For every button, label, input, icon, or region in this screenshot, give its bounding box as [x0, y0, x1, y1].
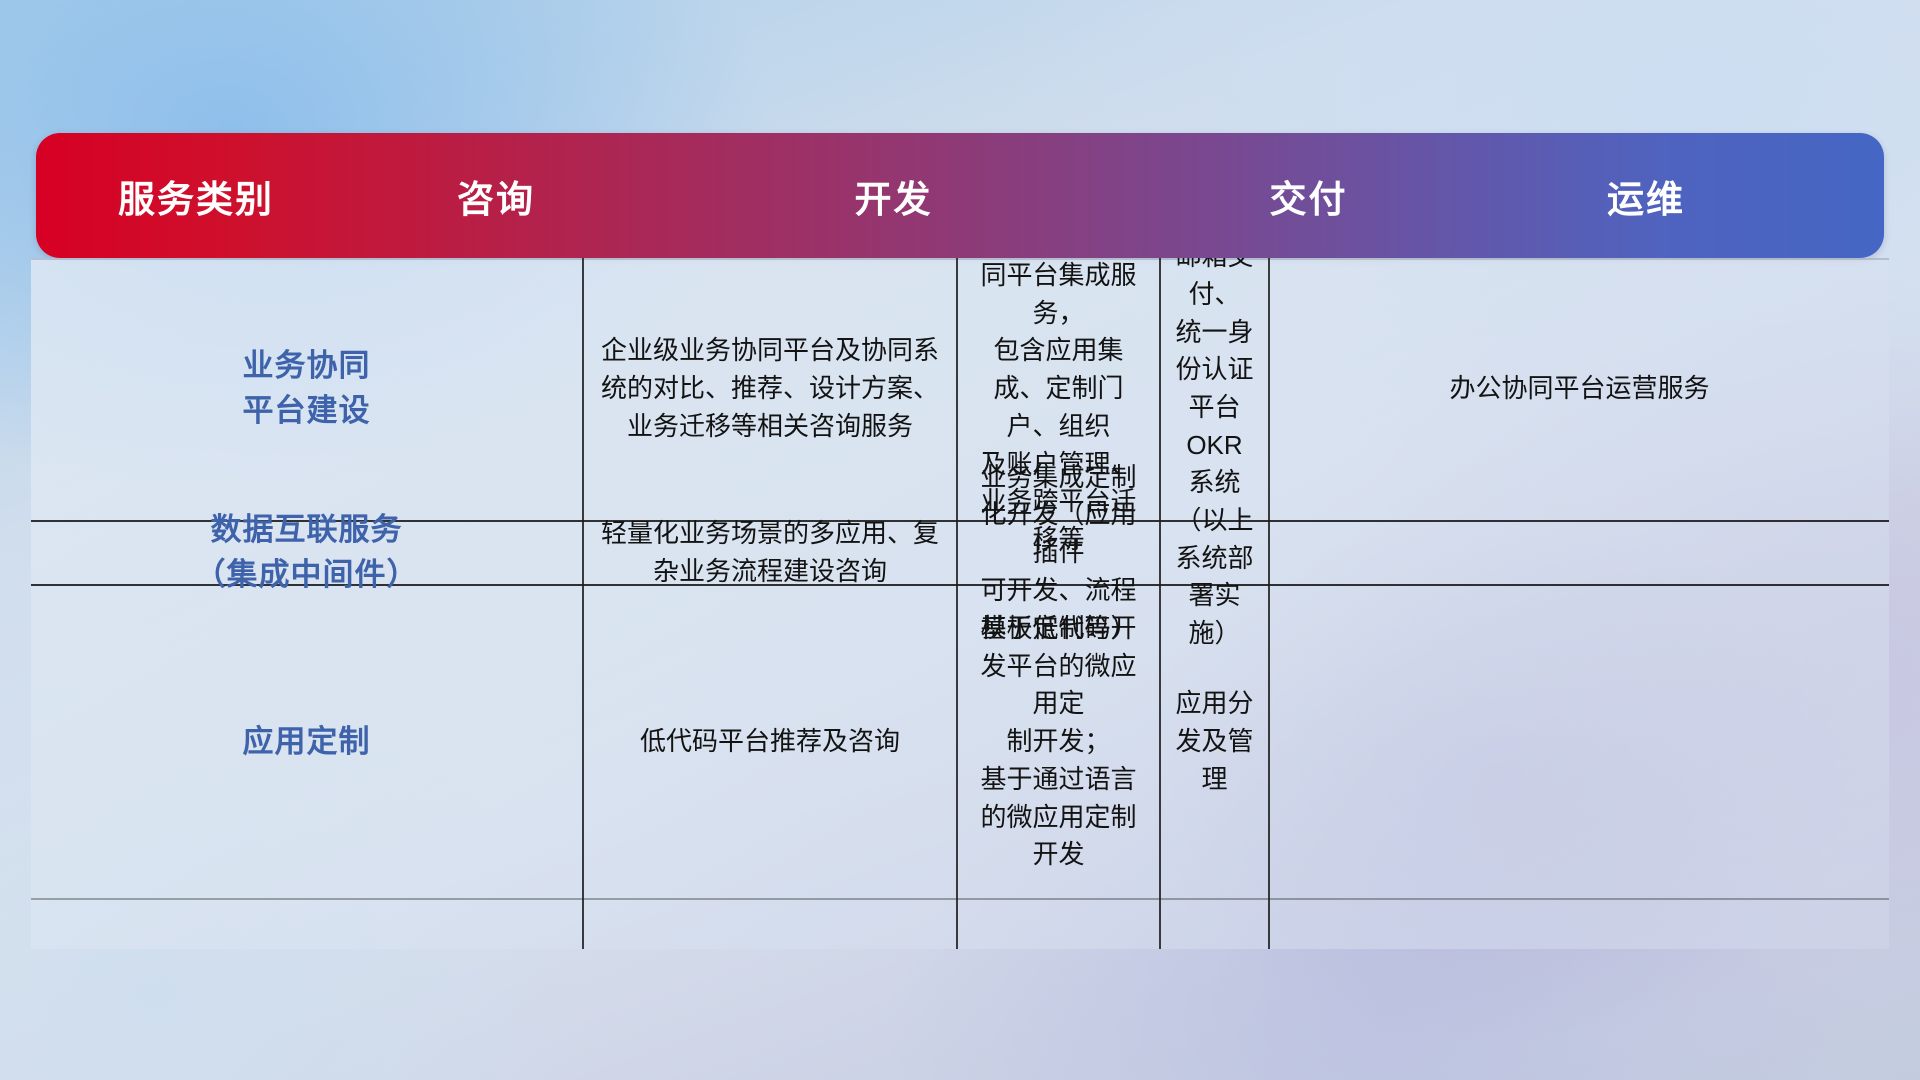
column-header-consulting: 咨询 — [326, 169, 666, 223]
cell-r2-operations — [1270, 522, 1889, 584]
row-label-business-collaboration: 业务协同 平台建设 — [31, 258, 582, 520]
cell-r1-consulting: 企业级业务协同平台及协同系 统的对比、推荐、设计方案、 业务迁移等相关咨询服务 — [584, 258, 956, 520]
table-body: 业务协同 平台建设 企业级业务协同平台及协同系 统的对比、推荐、设计方案、 业务… — [31, 258, 1889, 949]
table-header-bar: 服务类别 咨询 开发 交付 运维 — [36, 133, 1884, 258]
table-bottom-border — [31, 898, 1889, 900]
row-label-app-customization: 应用定制 — [31, 586, 582, 898]
cell-r3-operations — [1270, 586, 1889, 898]
column-header-operations: 运维 — [1496, 169, 1796, 223]
row-label-data-integration: 数据互联服务 （集成中间件） — [31, 522, 582, 584]
cell-r2-development: 业务集成定制化开发（应用插件 可开发、流程模板定制等） — [958, 522, 1159, 584]
cell-r3-development: 基于低代码开发平台的微应用定 制开发； 基于通过语言的微应用定制开发 — [958, 586, 1159, 898]
cell-r2-delivery — [1161, 522, 1268, 584]
cell-r3-delivery: 应用分发及管理 — [1161, 586, 1268, 898]
cell-r2-consulting: 轻量化业务场景的多应用、复 杂业务流程建设咨询 — [584, 522, 956, 584]
service-matrix-slide: 服务类别 咨询 开发 交付 运维 业务协同 平台建设 企业级业务协同平台及协同系… — [0, 0, 1920, 1080]
column-header-development: 开发 — [666, 169, 1121, 223]
column-header-delivery: 交付 — [1121, 169, 1496, 223]
column-header-category: 服务类别 — [66, 169, 326, 223]
cell-r1-delivery: 项目管理平台交付 邮箱交付、 统一身份认证平台 OKR系统 （以上系统部署实施） — [1161, 258, 1268, 520]
cell-r1-operations: 办公协同平台运营服务 — [1270, 258, 1889, 520]
cell-r3-consulting: 低代码平台推荐及咨询 — [584, 586, 956, 898]
